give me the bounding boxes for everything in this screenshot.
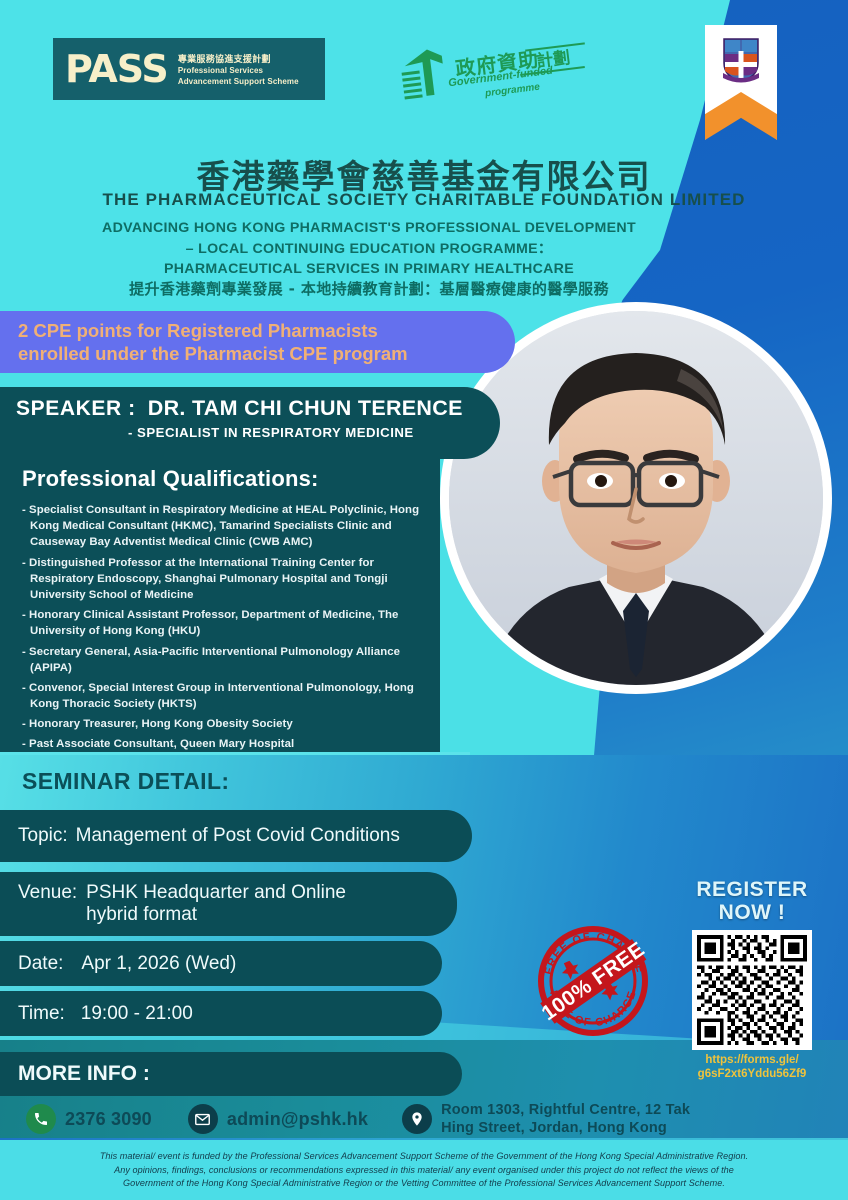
speaker-row: SPEAKER : DR. TAM CHI CHUN TERENCE (16, 387, 500, 421)
seminar-venue-row: Venue: PSHK Headquarter and Online hybri… (0, 872, 457, 936)
qualification-item: - Secretary General, Asia-Pacific Interv… (22, 644, 432, 676)
seminar-time-row: Time: 19:00 - 21:00 (0, 991, 442, 1036)
phone-number: 2376 3090 (65, 1109, 152, 1130)
seminar-date-row: Date: Apr 1, 2026 (Wed) (0, 941, 442, 986)
venue-stack: Venue: PSHK Headquarter and Online hybri… (18, 882, 346, 926)
pass-english-line1: Professional Services (178, 66, 299, 76)
contact-address: Room 1303, Rightful Centre, 12 Tak Hing … (402, 1101, 690, 1137)
venue-value: PSHK Headquarter and Online hybrid forma… (86, 882, 346, 926)
contact-bar: 2376 3090 admin@pshk.hk Room 1303, Right… (0, 1096, 848, 1142)
speaker-bar: SPEAKER : DR. TAM CHI CHUN TERENCE - SPE… (0, 387, 500, 459)
topic-value: Management of Post Covid Conditions (76, 825, 400, 847)
cpe-line-1: 2 CPE points for Registered Pharmacists (18, 319, 515, 342)
cpe-line-2: enrolled under the Pharmacist CPE progra… (18, 342, 515, 365)
venue-label: Venue: (18, 882, 77, 904)
qr-code-icon[interactable] (697, 935, 807, 1045)
subtitle-line-2: – LOCAL CONTINUING EDUCATION PROGRAMME： (10, 239, 728, 260)
free-of-charge-stamp: FREE OF CHARGE FREE OF CHARGE 100% FREE (533, 922, 653, 1040)
coat-of-arms-shield-icon (722, 37, 760, 83)
pass-chinese-label: 專業服務協進支援計劃 (178, 52, 299, 65)
programme-subtitle: ADVANCING HONG KONG PHARMACIST'S PROFESS… (10, 218, 728, 280)
envelope-glyph (194, 1111, 211, 1128)
qualification-item: - Honorary Clinical Assistant Professor,… (22, 607, 432, 639)
contact-email[interactable]: admin@pshk.hk (188, 1104, 368, 1134)
address-text: Room 1303, Rightful Centre, 12 Tak Hing … (441, 1101, 690, 1137)
register-title-line2: NOW ! (668, 901, 836, 924)
envelope-icon (188, 1104, 218, 1134)
email-address: admin@pshk.hk (227, 1109, 368, 1130)
speaker-name: DR. TAM CHI CHUN TERENCE (148, 396, 463, 421)
register-title-line1: REGISTER (668, 878, 836, 901)
map-pin-icon (402, 1104, 432, 1134)
phone-icon (26, 1104, 56, 1134)
qualification-item: - Past Associate Consultant, Queen Mary … (22, 736, 432, 752)
date-label: Date: (18, 953, 63, 975)
government-funded-logo: 政府資助 計劃 Government-funded programme (400, 40, 570, 110)
pass-subtitle-group: 專業服務協進支援計劃 Professional Services Advance… (178, 52, 299, 87)
qualification-item: - Convenor, Special Interest Group in In… (22, 680, 432, 712)
more-info-label: MORE INFO : (18, 1062, 150, 1086)
qualification-item: - Specialist Consultant in Respiratory M… (22, 502, 432, 551)
venue-value-line2: hybrid format (86, 904, 197, 925)
disclaimer-line-2: Any opinions, findings, conclusions or r… (28, 1164, 820, 1178)
qualifications-section: Professional Qualifications: - Specialis… (22, 466, 432, 757)
disclaimer-line-3: Government of the Hong Kong Special Admi… (28, 1177, 820, 1191)
cpe-points-banner: 2 CPE points for Registered Pharmacists … (0, 311, 515, 373)
qualification-item: - Honorary Treasurer, Hong Kong Obesity … (22, 716, 432, 732)
map-pin-glyph (409, 1111, 425, 1127)
address-line-2: Hing Street, Jordan, Hong Kong (441, 1120, 667, 1136)
pass-english-line2: Advancement Support Scheme (178, 77, 299, 87)
university-crest-banner (705, 25, 777, 140)
gov-english-line2: programme (485, 82, 541, 100)
pass-wordmark: PASS (65, 50, 168, 88)
phone-glyph (33, 1111, 49, 1127)
speaker-specialty: - SPECIALIST IN RESPIRATORY MEDICINE (16, 421, 500, 440)
programme-subtitle-chinese: 提升香港藥劑專業發展 - 本地持續教育計劃：基層醫療健康的醫學服務 (10, 278, 728, 299)
free-stamp-icon: FREE OF CHARGE FREE OF CHARGE 100% FREE (533, 922, 653, 1040)
date-value: Apr 1, 2026 (Wed) (81, 953, 236, 975)
qualification-item: - Distinguished Professor at the Interna… (22, 555, 432, 604)
topic-label: Topic: (18, 825, 68, 847)
pass-logo: PASS 專業服務協進支援計劃 Professional Services Ad… (53, 38, 325, 100)
contact-phone[interactable]: 2376 3090 (26, 1104, 152, 1134)
qr-code[interactable] (692, 930, 812, 1050)
register-url-line1[interactable]: https://forms.gle/ (668, 1054, 836, 1068)
photo-image (449, 311, 823, 685)
government-pillar-icon (397, 43, 452, 106)
time-label: Time: (18, 1003, 65, 1025)
qualifications-title: Professional Qualifications: (22, 466, 432, 492)
more-info-row: MORE INFO : (0, 1052, 462, 1096)
speaker-label: SPEAKER : (16, 397, 136, 421)
disclaimer-line-1: This material/ event is funded by the Pr… (28, 1150, 820, 1164)
time-value: 19:00 - 21:00 (81, 1003, 193, 1025)
organization-name-english: THE PHARMACEUTICAL SOCIETY CHARITABLE FO… (0, 190, 848, 210)
subtitle-line-1: ADVANCING HONG KONG PHARMACIST'S PROFESS… (10, 218, 728, 239)
seminar-topic-row: Topic: Management of Post Covid Conditio… (0, 810, 472, 862)
register-url-line2[interactable]: g6sF2xt6Yddu56Zf9 (668, 1068, 836, 1082)
footer-disclaimer: This material/ event is funded by the Pr… (28, 1150, 820, 1191)
portrait-illustration (449, 311, 823, 685)
speaker-photo (440, 302, 832, 862)
seminar-detail-title: SEMINAR DETAIL: (22, 768, 229, 795)
register-section[interactable]: REGISTER NOW ! (668, 878, 836, 1081)
address-line-1: Room 1303, Rightful Centre, 12 Tak (441, 1102, 690, 1118)
poster-root: PASS 專業服務協進支援計劃 Professional Services Ad… (0, 0, 848, 1200)
venue-value-line1: PSHK Headquarter and Online (86, 882, 346, 903)
